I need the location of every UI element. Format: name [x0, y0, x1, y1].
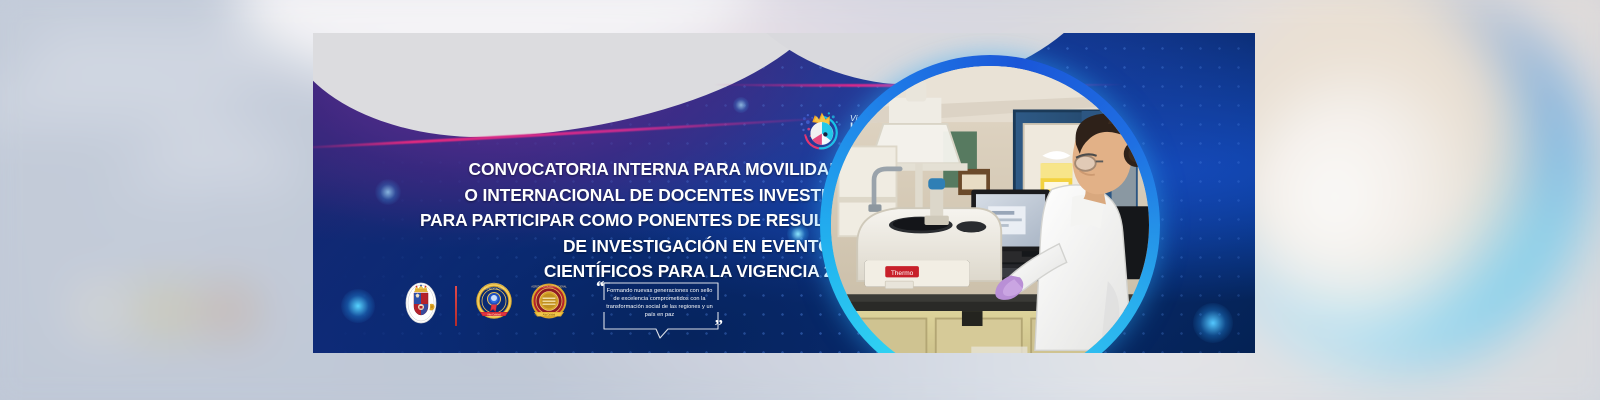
quote-close-mark: ”: [715, 316, 724, 336]
quote-text: Formando nuevas generaciones con sello d…: [594, 280, 722, 326]
background-ghost-text: [20, 38, 290, 198]
svg-text:Alta Calidad: Alta Calidad: [487, 313, 501, 316]
photo-inner-frame: Thermo: [831, 66, 1149, 353]
background-ghost-seals: [80, 290, 250, 332]
convocatoria-banner: Vicerrectoría de INVESTIGACIONES UNIPAMP…: [313, 33, 1255, 353]
background-ghost-figure: [1230, 80, 1490, 380]
accreditation-seals: ACREDITACIÓN Alta Calidad: [401, 281, 572, 330]
seals-divider: [455, 286, 457, 326]
svg-text:Thermo: Thermo: [891, 270, 914, 277]
laboratory-researcher-photo: Thermo: [820, 55, 1160, 353]
gold-accreditation-seal: ACREDITACIÓN Alta Calidad: [471, 281, 517, 330]
university-coat-of-arms-seal: [401, 281, 441, 330]
red-gold-accreditation-seal: ACREDITACIÓN INSTITUCIONAL Alta Calidad: [526, 281, 572, 330]
institutional-quote-callout: “ Formando nuevas generaciones con sello…: [594, 280, 722, 326]
